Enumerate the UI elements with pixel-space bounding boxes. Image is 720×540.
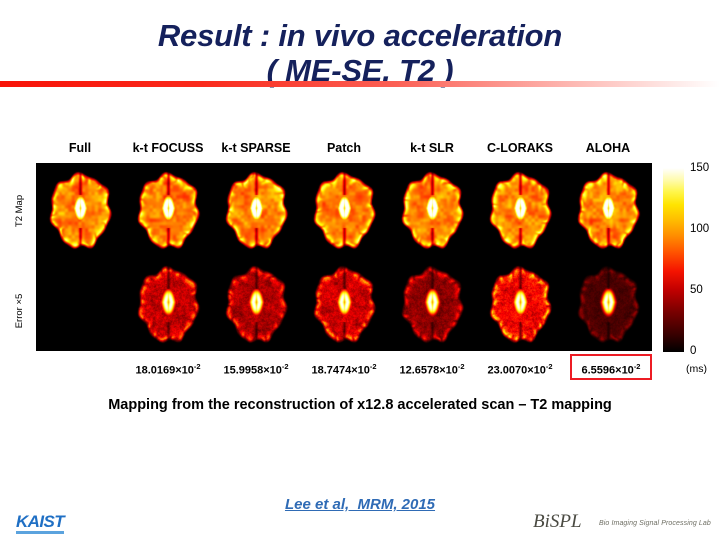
kaist-logo: KAIST [16,513,64,534]
figure-container: Full k-t FOCUSS k-t SPARSE Patch k-t SLR… [0,140,720,390]
page-title: Result : in vivo acceleration ( ME-SE, T… [0,18,720,89]
error-value-aloha-highlighted: 6.5596×10-2 [570,354,652,380]
bispl-tagline: Bio Imaging Signal Processing Lab [599,520,711,527]
brain-image-t2-aloha [564,163,652,257]
column-header-full: Full [36,140,124,156]
column-header-c-loraks: C-LORAKS [476,140,564,156]
colorbar-tick-150: 150 [690,162,709,174]
error-value-kt-slr: 12.6578×10-2 [388,358,476,376]
error-value-kt-focuss-mantissa: 18.0169×10 [135,365,193,377]
column-header-kt-slr: k-t SLR [388,140,476,156]
column-header-aloha: ALOHA [564,140,652,156]
bispl-wordmark: BiSPL [533,512,582,532]
column-header-patch: Patch [300,140,388,156]
colorbar-tick-50: 50 [690,284,703,296]
column-header-kt-sparse: k-t SPARSE [212,140,300,156]
figure-caption: Mapping from the reconstruction of x12.8… [0,397,720,413]
brain-image-t2-c-loraks [476,163,564,257]
error-value-c-loraks-exponent: -2 [546,362,553,371]
brain-image-t2-patch [300,163,388,257]
error-value-kt-sparse-exponent: -2 [282,362,289,371]
brain-image-t2-kt-slr [388,163,476,257]
brain-image-error-patch [300,257,388,351]
brain-image-panel [36,163,652,351]
error-value-patch: 18.7474×10-2 [300,358,388,376]
error-value-kt-sparse-mantissa: 15.9958×10 [223,365,281,377]
page-title-line-1: Result : in vivo acceleration [0,18,720,53]
bispl-logo: BiSPL Bio Imaging Signal Processing Lab [533,512,713,534]
error-value-c-loraks: 23.0070×10-2 [476,358,564,376]
error-value-kt-slr-mantissa: 12.6578×10 [399,365,457,377]
error-value-patch-exponent: -2 [370,362,377,371]
colorbar [663,168,684,352]
error-value-c-loraks-mantissa: 23.0070×10 [487,365,545,377]
error-value-patch-mantissa: 18.7474×10 [311,365,369,377]
brain-image-error-kt-focuss [124,257,212,351]
column-header-kt-focuss: k-t FOCUSS [124,140,212,156]
brain-image-error-aloha [564,257,652,351]
title-divider-rule [0,81,720,87]
citation-link[interactable]: Lee et al, MRM, 2015 [0,496,720,513]
error-value-kt-sparse: 15.9958×10-2 [212,358,300,376]
brain-image-t2-full [36,163,124,257]
brain-image-error-kt-sparse [212,257,300,351]
colorbar-unit-label: (ms) [686,363,707,375]
error-value-kt-slr-exponent: -2 [458,362,465,371]
error-value-kt-focuss: 18.0169×10-2 [124,358,212,376]
colorbar-tick-100: 100 [690,223,709,235]
brain-image-error-kt-slr [388,257,476,351]
error-value-aloha-mantissa: 6.5596×10 [582,365,634,377]
error-value-aloha-exponent: -2 [634,362,641,371]
colorbar-gradient [663,168,684,352]
row-label-t2-map: T2 Map [14,166,25,256]
brain-image-error-c-loraks [476,257,564,351]
colorbar-tick-0: 0 [690,345,696,357]
brain-image-t2-kt-focuss [124,163,212,257]
brain-image-t2-kt-sparse [212,163,300,257]
row-label-error: Error ×5 [14,266,25,356]
error-value-kt-focuss-exponent: -2 [194,362,201,371]
